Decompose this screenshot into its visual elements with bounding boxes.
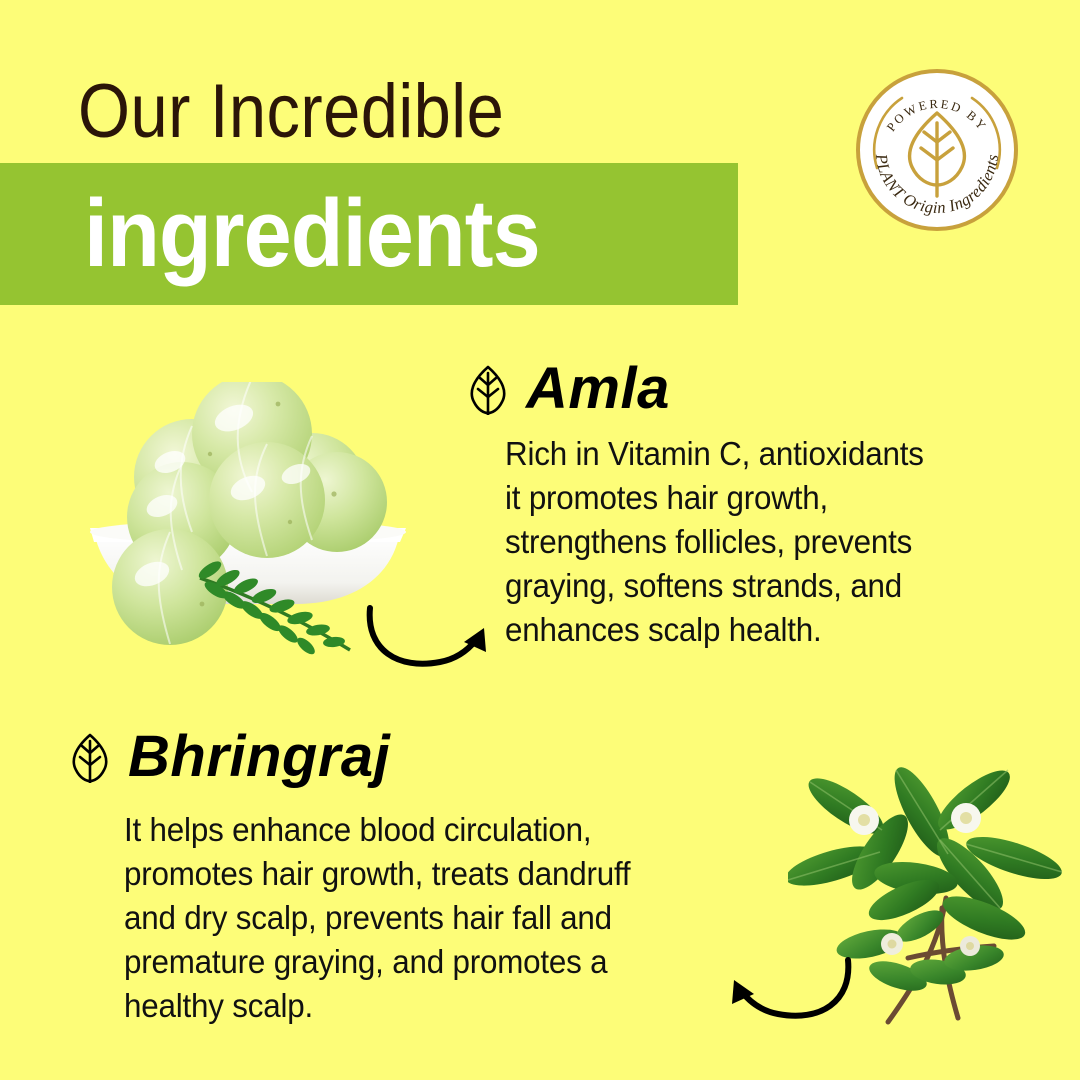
ingredients-infographic: Our Incredible ingredients <box>0 0 1080 1080</box>
ingredient-name-amla: Amla <box>526 358 670 420</box>
page-title-line1: Our Incredible <box>78 68 504 156</box>
curved-arrow-left-icon <box>716 944 862 1030</box>
curved-arrow-right-icon <box>356 592 502 678</box>
section-heading-amla: Amla <box>466 358 670 420</box>
leaf-icon <box>68 731 112 783</box>
page-title-line2: ingredients <box>84 178 540 290</box>
plant-origin-badge: POWERED BY PLANT Origin Ingredients <box>855 68 1019 232</box>
leaf-icon <box>466 363 510 415</box>
section-heading-bhringraj: Bhringraj <box>68 726 390 788</box>
ingredient-name-bhringraj: Bhringraj <box>128 726 390 788</box>
ingredient-description-amla: Rich in Vitamin C, antioxidants it promo… <box>505 432 1037 652</box>
ingredient-description-bhringraj: It helps enhance blood circulation, prom… <box>124 808 751 1028</box>
